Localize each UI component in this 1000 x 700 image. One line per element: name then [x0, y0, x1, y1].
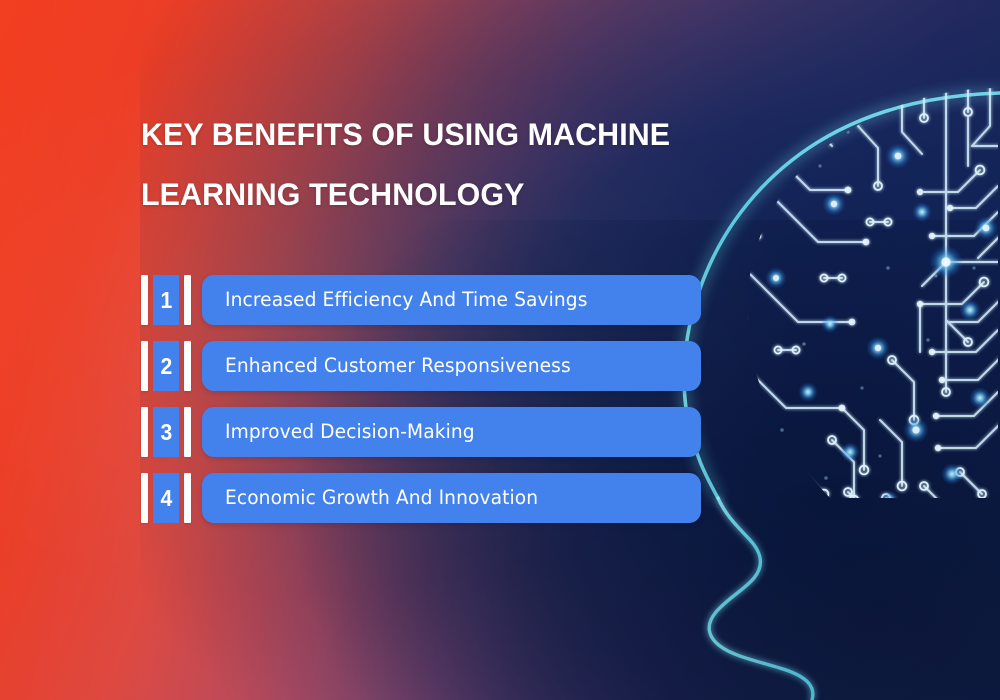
- item-label: Increased Efficiency And Time Savings: [225, 290, 588, 310]
- list-item[interactable]: 4 Economic Growth And Innovation: [141, 473, 741, 523]
- item-label: Improved Decision-Making: [225, 422, 475, 442]
- list-item[interactable]: 1 Increased Efficiency And Time Savings: [141, 275, 741, 325]
- item-number: 4: [160, 487, 172, 510]
- item-pill[interactable]: Economic Growth And Innovation: [202, 473, 701, 523]
- benefits-list: 1 Increased Efficiency And Time Savings …: [141, 275, 741, 523]
- item-pill[interactable]: Increased Efficiency And Time Savings: [202, 275, 701, 325]
- item-number: 3: [160, 421, 172, 444]
- item-pill[interactable]: Enhanced Customer Responsiveness: [202, 341, 701, 391]
- accent-bar-left: [141, 275, 148, 325]
- accent-bar-left: [141, 407, 148, 457]
- item-number-badge: 3: [153, 407, 179, 457]
- page-title: KEY BENEFITS OF USING MACHINE LEARNING T…: [141, 104, 720, 224]
- accent-bar-left: [141, 473, 148, 523]
- item-label: Enhanced Customer Responsiveness: [225, 356, 571, 376]
- list-item[interactable]: 3 Improved Decision-Making: [141, 407, 741, 457]
- content-column: KEY BENEFITS OF USING MACHINE LEARNING T…: [0, 0, 760, 700]
- accent-bar-right: [184, 473, 191, 523]
- item-number: 2: [160, 355, 172, 378]
- item-pill[interactable]: Improved Decision-Making: [202, 407, 701, 457]
- item-number-badge: 1: [153, 275, 179, 325]
- accent-bar-right: [184, 341, 191, 391]
- accent-bar-left: [141, 341, 148, 391]
- list-item[interactable]: 2 Enhanced Customer Responsiveness: [141, 341, 741, 391]
- item-number-badge: 2: [153, 341, 179, 391]
- accent-bar-right: [184, 275, 191, 325]
- item-number-badge: 4: [153, 473, 179, 523]
- accent-bar-right: [184, 407, 191, 457]
- item-label: Economic Growth And Innovation: [225, 488, 538, 508]
- infographic-canvas: KEY BENEFITS OF USING MACHINE LEARNING T…: [0, 0, 1000, 700]
- item-number: 1: [160, 289, 172, 312]
